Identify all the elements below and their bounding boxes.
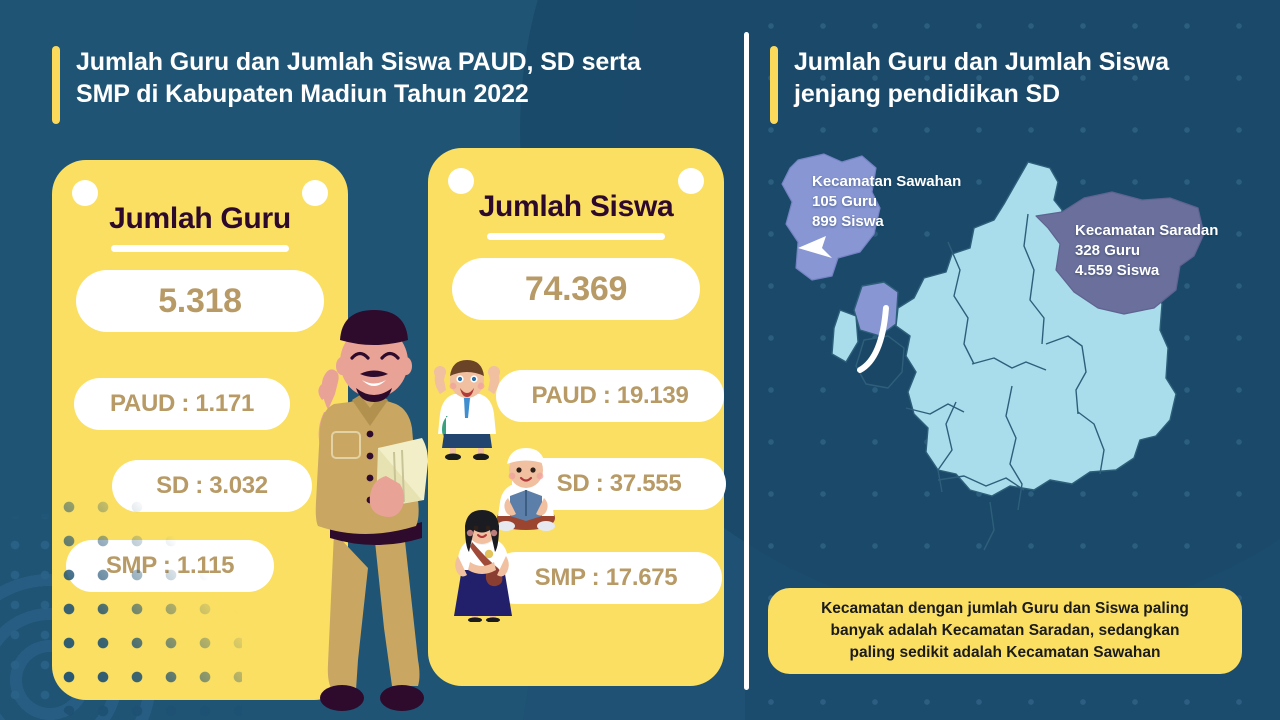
card-punch-hole-left [72, 180, 98, 206]
guru-paud-value: PAUD : 1.171 [110, 390, 254, 418]
guru-sd-value: SD : 3.032 [156, 472, 268, 500]
map-label-sawahan: Kecamatan Sawahan 105 Guru 899 Siswa [812, 172, 961, 231]
card-guru-heading-underline [111, 245, 289, 252]
card-punch-hole-left [448, 168, 474, 194]
card-punch-hole-right [678, 168, 704, 194]
siswa-paud-value: PAUD : 19.139 [531, 382, 688, 410]
card-siswa-heading-underline [487, 233, 665, 240]
right-panel-header: Jumlah Guru dan Jumlah Siswa jenjang pen… [770, 46, 1240, 124]
right-panel-title: Jumlah Guru dan Jumlah Siswa jenjang pen… [794, 46, 1169, 110]
panel-divider [744, 32, 749, 690]
guru-total-value: 5.318 [158, 282, 242, 321]
infographic-canvas: Jumlah Guru dan Jumlah Siswa PAUD, SD se… [0, 0, 1280, 720]
map-footnote-box: Kecamatan dengan jumlah Guru dan Siswa p… [768, 588, 1242, 674]
guru-smp-value: SMP : 1.115 [106, 552, 234, 580]
header-accent-bar [52, 46, 60, 124]
siswa-paud-pill: PAUD : 19.139 [496, 370, 724, 422]
map-label-saradan: Kecamatan Saradan 328 Guru 4.559 Siswa [1075, 221, 1218, 280]
map-footnote-text: Kecamatan dengan jumlah Guru dan Siswa p… [821, 598, 1189, 664]
student-smp-illustration [448, 510, 518, 622]
card-siswa-heading: Jumlah Siswa [428, 190, 724, 224]
siswa-smp-value: SMP : 17.675 [535, 564, 678, 592]
siswa-total-pill: 74.369 [452, 258, 700, 320]
left-panel-title: Jumlah Guru dan Jumlah Siswa PAUD, SD se… [76, 46, 641, 110]
siswa-total-value: 74.369 [525, 270, 627, 309]
guru-smp-pill: SMP : 1.115 [66, 540, 274, 592]
left-panel-header: Jumlah Guru dan Jumlah Siswa PAUD, SD se… [52, 46, 712, 124]
card-guru-heading: Jumlah Guru [52, 202, 348, 236]
guru-paud-pill: PAUD : 1.171 [74, 378, 290, 430]
card-punch-hole-right [302, 180, 328, 206]
header-accent-bar [770, 46, 778, 124]
student-sd-illustration [430, 360, 504, 460]
siswa-smp-pill: SMP : 17.675 [490, 552, 722, 604]
siswa-sd-value: SD : 37.555 [557, 470, 682, 498]
